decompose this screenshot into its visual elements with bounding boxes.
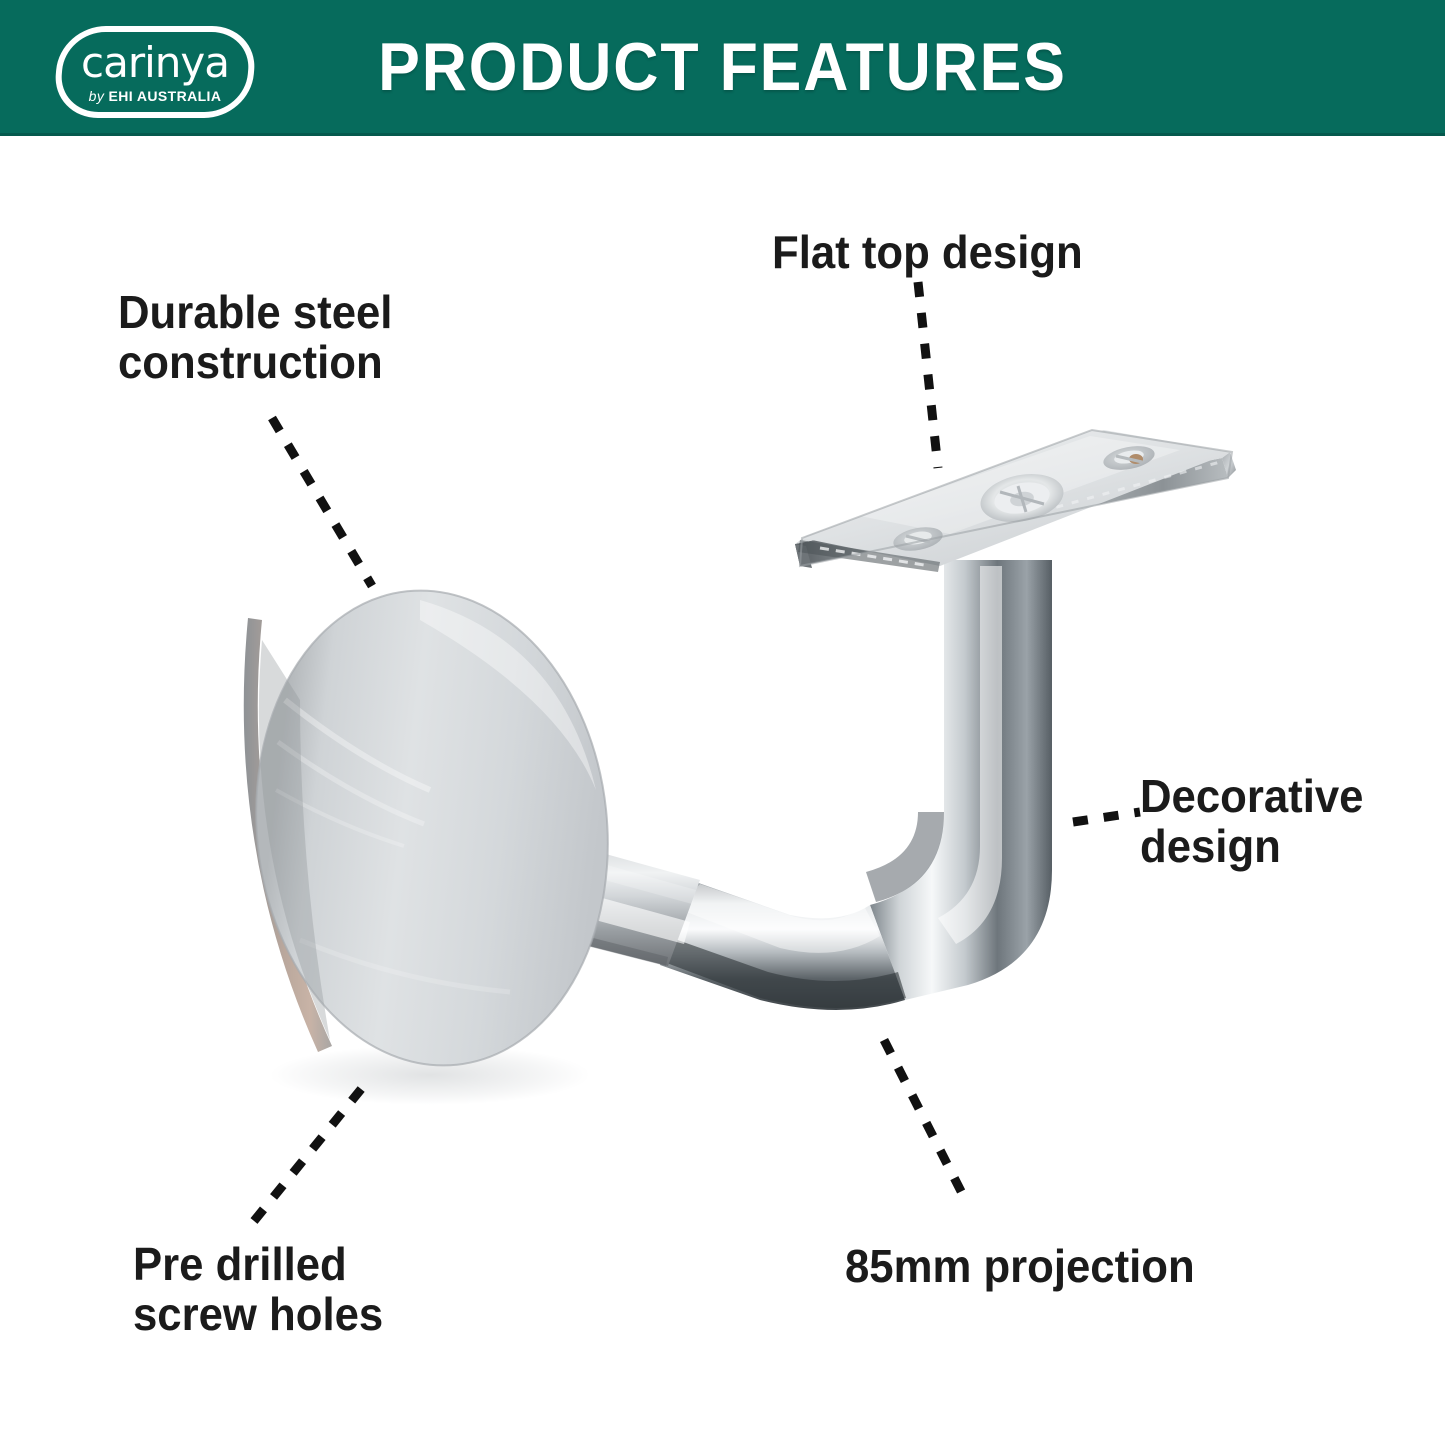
leader-durable-steel-construction: [272, 418, 372, 586]
callout-flat-top-design: Flat top design: [772, 228, 1083, 278]
leader-lines: [0, 0, 1445, 1445]
callout-pre-drilled-screw-holes: Pre drilled screw holes: [133, 1240, 383, 1339]
callout-decorative-design: Decorative design: [1140, 772, 1363, 871]
leader-decorative-design: [1073, 812, 1140, 822]
leader-pre-drilled-screw-holes: [254, 1088, 362, 1221]
callout-85mm-projection: 85mm projection: [845, 1242, 1195, 1292]
callout-durable-steel-construction: Durable steel construction: [118, 288, 392, 387]
leader-flat-top-design: [918, 282, 938, 468]
infographic-canvas: PRODUCT FEATURES carinya by EHI AUSTRALI…: [0, 0, 1445, 1445]
leader-85mm-projection: [884, 1040, 967, 1203]
